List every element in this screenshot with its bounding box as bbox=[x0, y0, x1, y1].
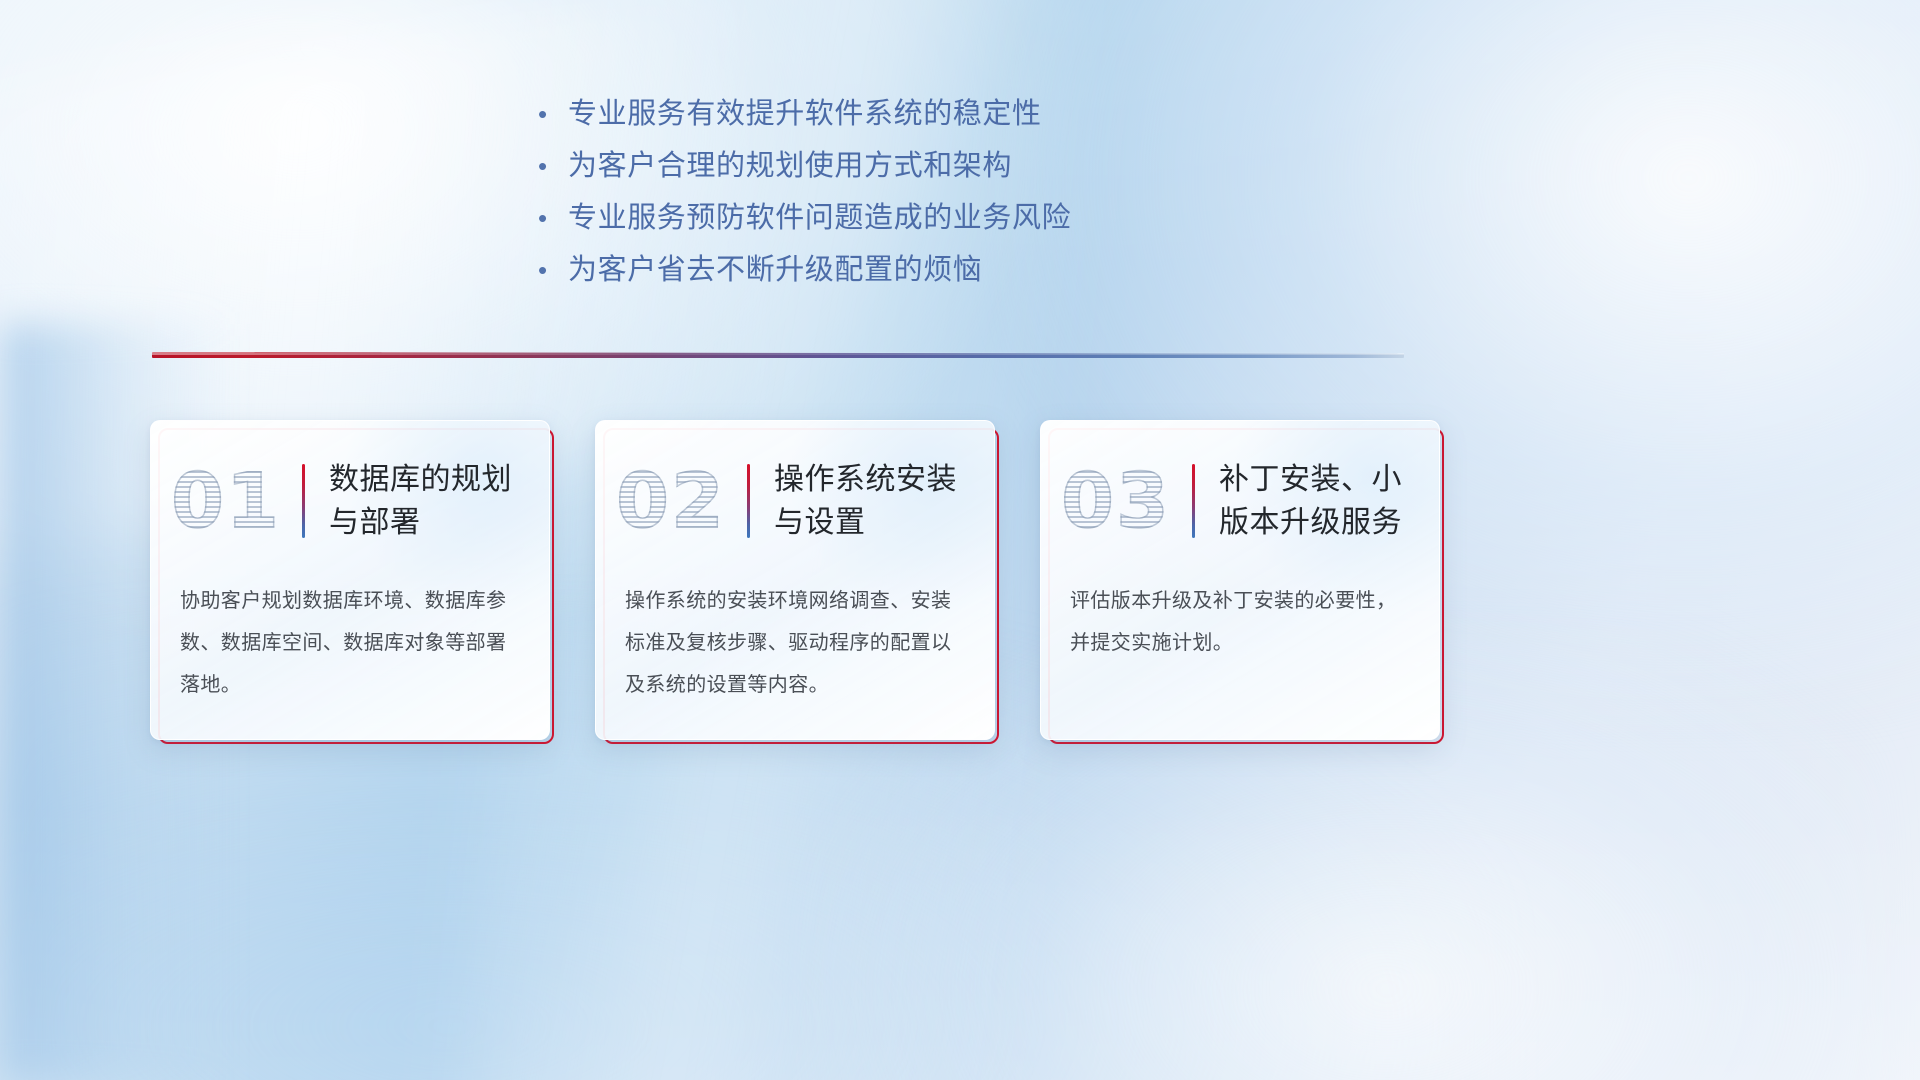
service-card-02[interactable]: 02 操作系统安装与设置 操作系统的安装环境网络调查、安装标准及复核步骤、驱动程… bbox=[595, 420, 995, 740]
bullet-dot-icon: • bbox=[538, 144, 568, 188]
bullet-item: • 为客户合理的规划使用方式和架构 bbox=[538, 144, 1071, 196]
service-cards-row: 01 数据库的规划与部署 协助客户规划数据库环境、数据库参数、数据库空间、数据库… bbox=[150, 420, 1440, 740]
bullet-item: • 专业服务预防软件问题造成的业务风险 bbox=[538, 196, 1071, 248]
bullet-dot-icon: • bbox=[538, 196, 568, 240]
bullet-text: 专业服务预防软件问题造成的业务风险 bbox=[568, 196, 1071, 240]
card-title: 补丁安装、小版本升级服务 bbox=[1195, 458, 1440, 544]
card-description: 评估版本升级及补丁安装的必要性，并提交实施计划。 bbox=[1070, 580, 1412, 664]
bullet-dot-icon: • bbox=[538, 248, 568, 292]
card-header: 02 操作系统安装与设置 bbox=[595, 446, 995, 556]
bullet-item: • 为客户省去不断升级配置的烦恼 bbox=[538, 248, 1071, 300]
card-header: 03 补丁安装、小版本升级服务 bbox=[1040, 446, 1440, 556]
card-title: 数据库的规划与部署 bbox=[305, 458, 550, 544]
bullet-dot-icon: • bbox=[538, 92, 568, 136]
card-header: 01 数据库的规划与部署 bbox=[150, 446, 550, 556]
card-description: 操作系统的安装环境网络调查、安装标准及复核步骤、驱动程序的配置以及系统的设置等内… bbox=[625, 580, 967, 706]
bullet-text: 为客户省去不断升级配置的烦恼 bbox=[568, 248, 982, 292]
card-title: 操作系统安装与设置 bbox=[750, 458, 995, 544]
service-card-03[interactable]: 03 补丁安装、小版本升级服务 评估版本升级及补丁安装的必要性，并提交实施计划。 bbox=[1040, 420, 1440, 740]
card-description: 协助客户规划数据库环境、数据库参数、数据库空间、数据库对象等部署落地。 bbox=[180, 580, 522, 706]
bullet-text: 专业服务有效提升软件系统的稳定性 bbox=[568, 92, 1042, 136]
card-number: 01 bbox=[150, 446, 302, 556]
divider-highlight bbox=[152, 352, 1404, 355]
bullet-text: 为客户合理的规划使用方式和架构 bbox=[568, 144, 1012, 188]
card-number: 02 bbox=[595, 446, 747, 556]
service-card-01[interactable]: 01 数据库的规划与部署 协助客户规划数据库环境、数据库参数、数据库空间、数据库… bbox=[150, 420, 550, 740]
section-divider bbox=[152, 352, 1404, 359]
bullet-item: • 专业服务有效提升软件系统的稳定性 bbox=[538, 92, 1071, 144]
card-number: 03 bbox=[1040, 446, 1192, 556]
benefits-bullet-list: • 专业服务有效提升软件系统的稳定性 • 为客户合理的规划使用方式和架构 • 专… bbox=[538, 92, 1071, 300]
